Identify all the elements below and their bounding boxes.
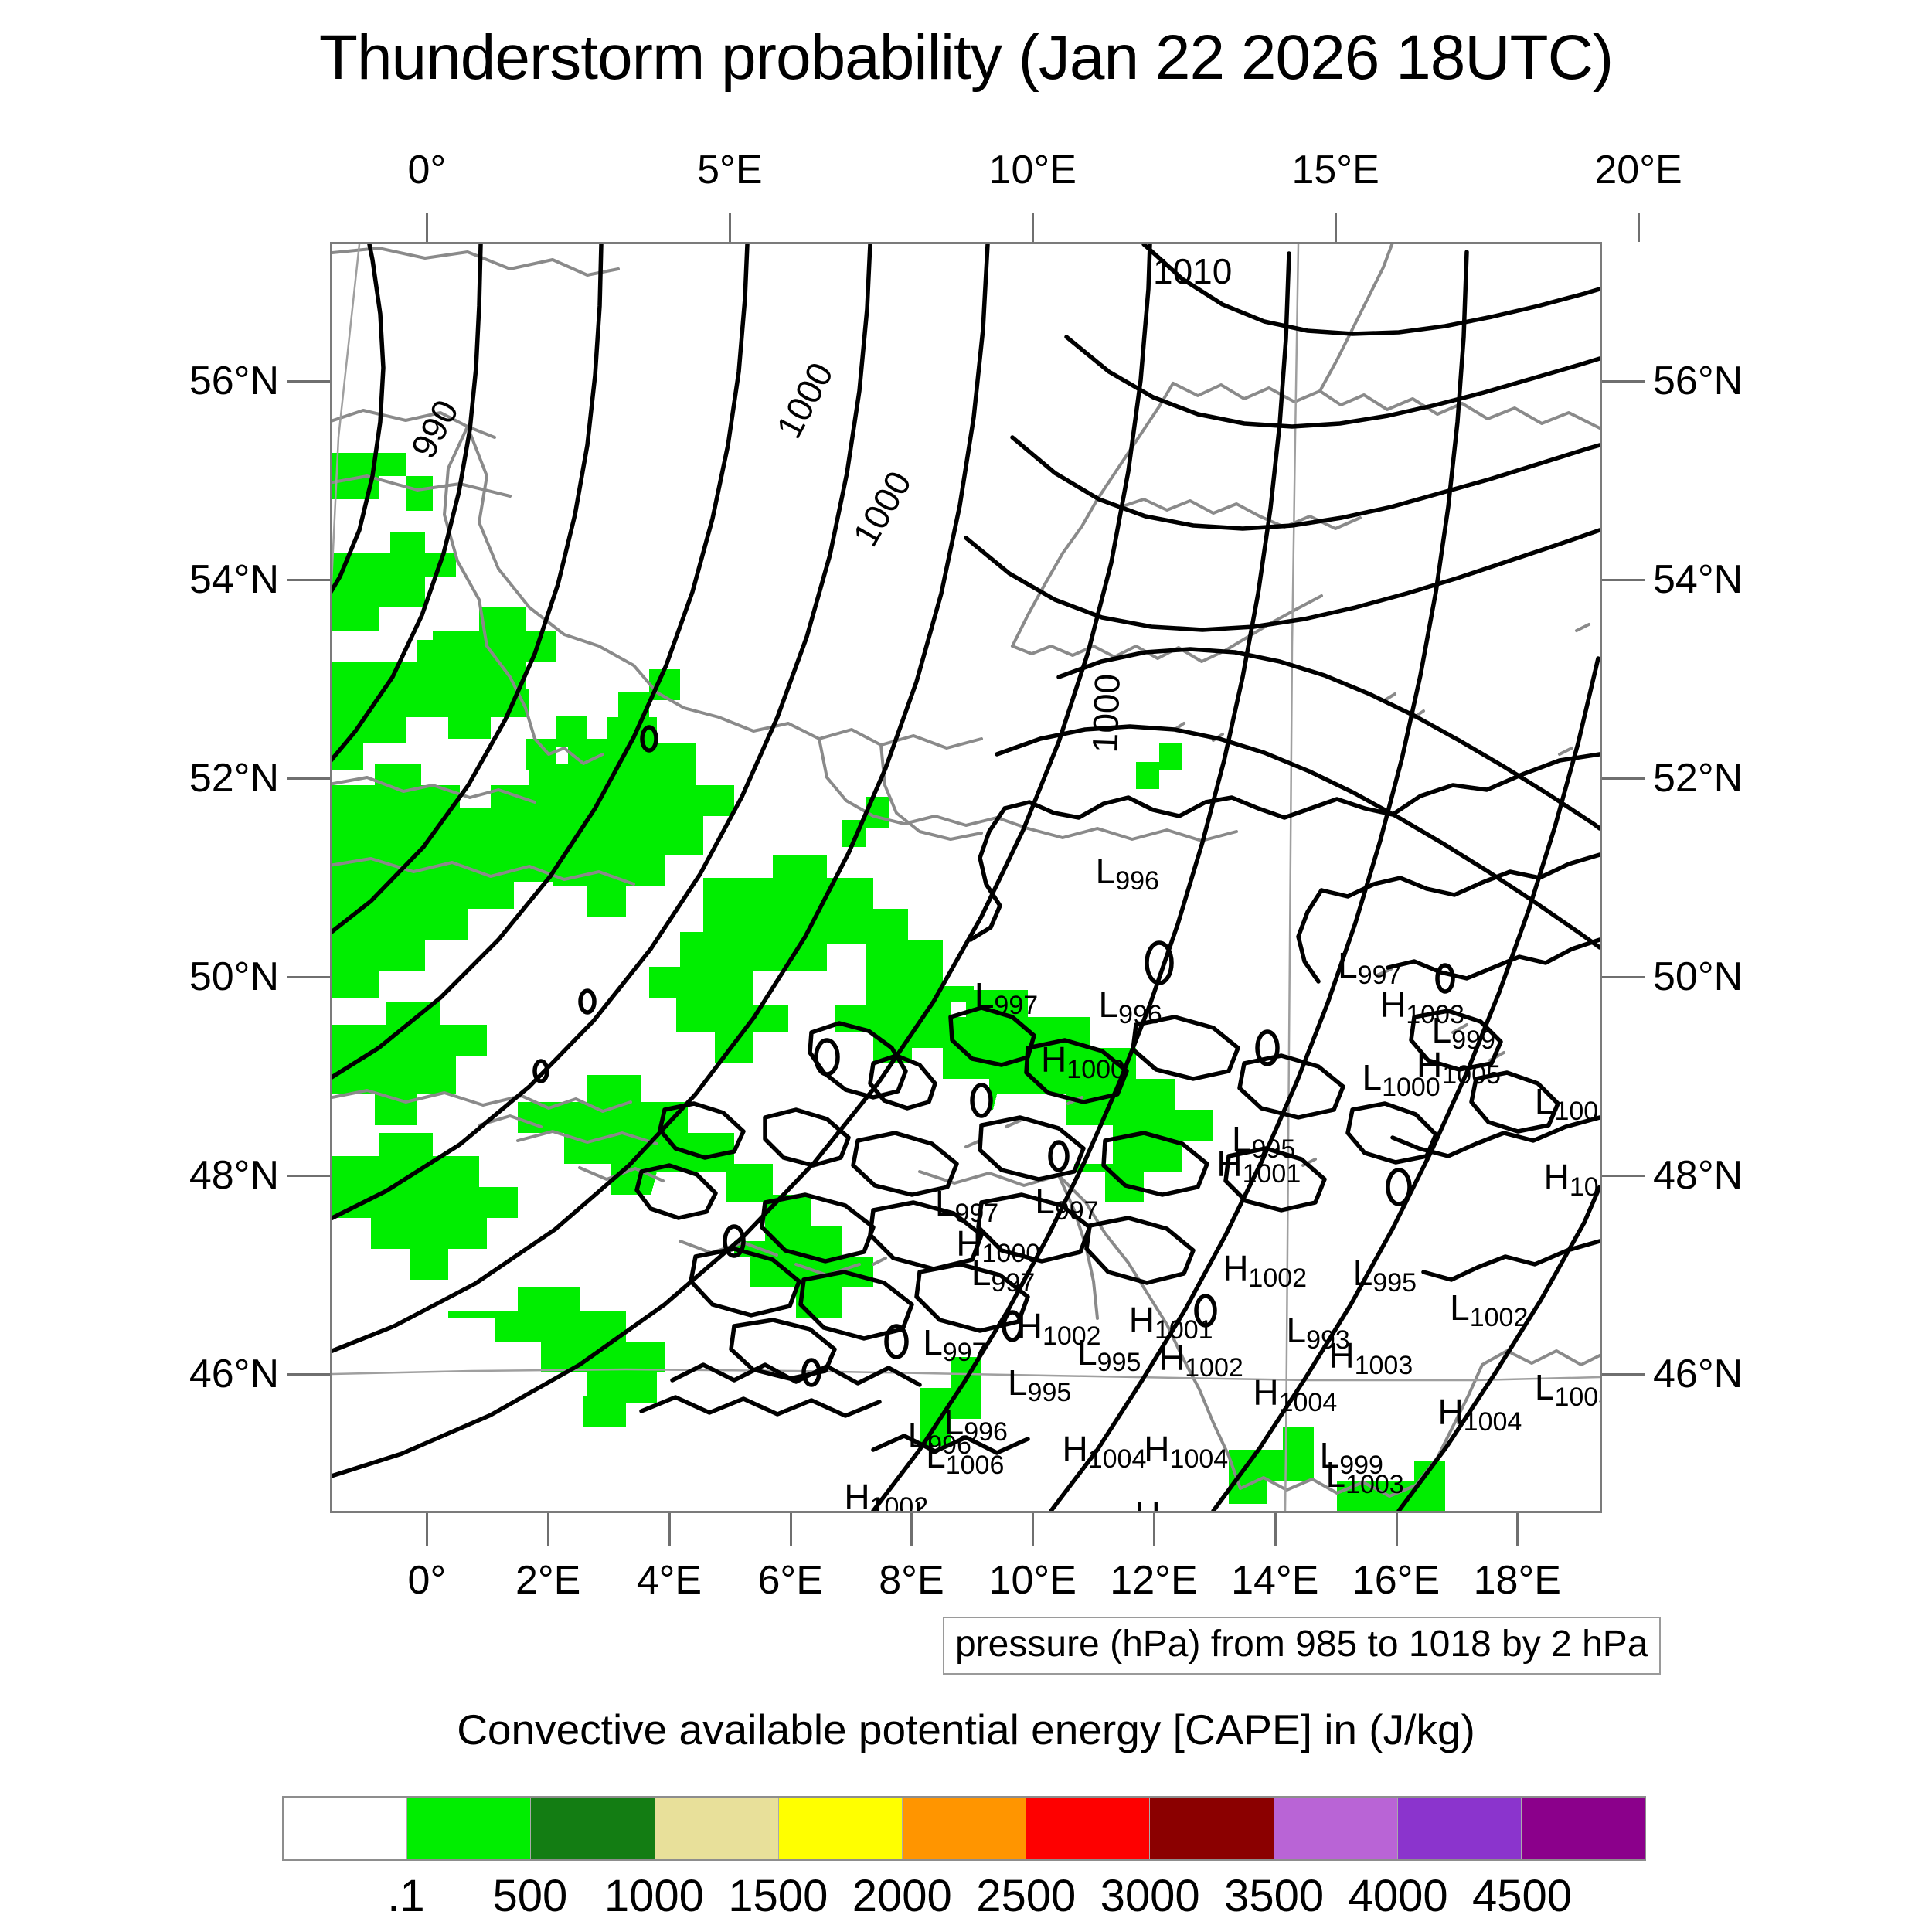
pressure-legend-text: pressure (hPa) from 985 to 1018 by 2 hPa bbox=[955, 1624, 1648, 1665]
axis-label-bottom-2: 4°E bbox=[637, 1557, 702, 1604]
colorbar-tick-2: 1000 bbox=[604, 1870, 704, 1922]
colorbar-segment-5[interactable] bbox=[902, 1798, 1026, 1859]
colorbar-tick-7: 3500 bbox=[1224, 1870, 1324, 1922]
pressure-extremum-l-37: L1006 bbox=[926, 1434, 1004, 1476]
cape-colorbar-ticks: .150010001500200025003000350040004500 bbox=[282, 1870, 1646, 1924]
pressure-extremum-h-34: H1004 bbox=[1144, 1428, 1228, 1470]
map-canvas bbox=[332, 244, 1600, 1511]
colorbar-tick-9: 4500 bbox=[1472, 1870, 1572, 1922]
axis-tick-bottom-0 bbox=[426, 1513, 428, 1546]
pressure-extremum-l-9: L1005 bbox=[1535, 1080, 1602, 1122]
pressure-extremum-h-17: H1002 bbox=[1223, 1247, 1307, 1289]
pressure-extremum-l-18: L995 bbox=[1353, 1252, 1417, 1294]
axis-tick-top-2 bbox=[1032, 213, 1034, 242]
axis-tick-right-5 bbox=[1602, 1373, 1645, 1376]
axis-tick-left-1 bbox=[287, 579, 330, 581]
axis-label-right-3: 50°N bbox=[1653, 954, 1743, 1000]
axis-label-top-3: 15°E bbox=[1291, 147, 1379, 193]
pressure-extremum-h-12: H1005 bbox=[1544, 1156, 1602, 1198]
axis-label-bottom-7: 14°E bbox=[1231, 1557, 1318, 1604]
pressure-extremum-l-1: L997 bbox=[975, 975, 1038, 1016]
axis-label-right-4: 48°N bbox=[1653, 1152, 1743, 1199]
axis-tick-bottom-4 bbox=[910, 1513, 913, 1546]
pressure-extremum-l-0: L996 bbox=[1096, 850, 1159, 892]
axis-label-left-5: 46°N bbox=[189, 1351, 279, 1397]
axis-tick-left-4 bbox=[287, 1175, 330, 1177]
pressure-extremum-h-20: H1001 bbox=[1129, 1299, 1213, 1341]
pressure-extremum-h-29: H1004 bbox=[1253, 1372, 1337, 1413]
pressure-extremum-l-23: L997 bbox=[923, 1321, 986, 1363]
pressure-extremum-l-22: L1002 bbox=[1450, 1287, 1528, 1328]
axis-label-left-2: 52°N bbox=[189, 755, 279, 801]
axis-label-top-0: 0° bbox=[408, 147, 447, 193]
axis-tick-right-0 bbox=[1602, 380, 1645, 383]
pressure-extremum-h-40: H1002 bbox=[1135, 1494, 1219, 1513]
axis-label-bottom-6: 12°E bbox=[1110, 1557, 1197, 1604]
axis-tick-bottom-1 bbox=[547, 1513, 549, 1546]
axis-tick-right-2 bbox=[1602, 777, 1645, 780]
axis-label-bottom-5: 10°E bbox=[989, 1557, 1077, 1604]
contour-label-1000-c: 1000 bbox=[1083, 673, 1128, 753]
colorbar-tick-5: 2500 bbox=[976, 1870, 1076, 1922]
axis-tick-bottom-5 bbox=[1032, 1513, 1034, 1546]
axis-tick-bottom-2 bbox=[668, 1513, 671, 1546]
axis-tick-left-2 bbox=[287, 777, 330, 780]
colorbar-tick-4: 2000 bbox=[852, 1870, 952, 1922]
colorbar-segment-4[interactable] bbox=[778, 1798, 902, 1859]
axis-label-right-1: 54°N bbox=[1653, 556, 1743, 603]
colorbar-segment-10[interactable] bbox=[1521, 1798, 1645, 1859]
axis-label-bottom-1: 2°E bbox=[515, 1557, 580, 1604]
axis-label-top-4: 20°E bbox=[1594, 147, 1682, 193]
axis-label-left-3: 50°N bbox=[189, 954, 279, 1000]
axis-tick-bottom-8 bbox=[1396, 1513, 1398, 1546]
axis-label-left-1: 54°N bbox=[189, 556, 279, 603]
colorbar-tick-0: .1 bbox=[387, 1870, 424, 1922]
axis-tick-left-3 bbox=[287, 976, 330, 978]
map-panel[interactable]: 990 1000 1000 1010 1000 L996L997L996L997… bbox=[330, 242, 1602, 1513]
axis-label-left-4: 48°N bbox=[189, 1152, 279, 1199]
axis-tick-right-1 bbox=[1602, 579, 1645, 581]
pressure-extremum-h-33: H1004 bbox=[1062, 1428, 1146, 1470]
pressure-extremum-l-36: L1003 bbox=[1325, 1454, 1403, 1495]
axis-label-top-2: 10°E bbox=[989, 147, 1077, 193]
pressure-extremum-l-39: L996 bbox=[913, 1494, 977, 1513]
axis-tick-bottom-6 bbox=[1153, 1513, 1155, 1546]
axis-label-bottom-8: 16°E bbox=[1352, 1557, 1440, 1604]
colorbar-tick-6: 3000 bbox=[1100, 1870, 1200, 1922]
axis-tick-top-4 bbox=[1638, 213, 1640, 242]
colorbar-tick-1: 500 bbox=[493, 1870, 568, 1922]
axis-tick-top-0 bbox=[426, 213, 428, 242]
pressure-extremum-h-11: H1001 bbox=[1216, 1143, 1301, 1185]
colorbar-tick-3: 1500 bbox=[728, 1870, 828, 1922]
pressure-extremum-h-26: H1003 bbox=[1328, 1335, 1413, 1376]
colorbar-segment-0[interactable] bbox=[284, 1798, 406, 1859]
axis-label-bottom-4: 8°E bbox=[879, 1557, 944, 1604]
axis-label-bottom-3: 6°E bbox=[757, 1557, 822, 1604]
axis-tick-top-1 bbox=[729, 213, 731, 242]
page-title: Thunderstorm probability (Jan 22 2026 18… bbox=[0, 22, 1932, 94]
pressure-extremum-l-13: L997 bbox=[935, 1182, 998, 1224]
colorbar-segment-7[interactable] bbox=[1149, 1798, 1273, 1859]
colorbar-segment-2[interactable] bbox=[530, 1798, 654, 1859]
axis-label-left-0: 56°N bbox=[189, 358, 279, 404]
contour-label-1010: 1010 bbox=[1153, 250, 1232, 292]
pressure-extremum-h-25: H1002 bbox=[1159, 1337, 1243, 1379]
pressure-legend-box: pressure (hPa) from 985 to 1018 by 2 hPa bbox=[943, 1617, 1661, 1675]
axis-tick-right-3 bbox=[1602, 976, 1645, 978]
colorbar-segment-6[interactable] bbox=[1026, 1798, 1149, 1859]
axis-tick-bottom-3 bbox=[790, 1513, 792, 1546]
pressure-extremum-l-2: L996 bbox=[1099, 984, 1162, 1026]
axis-tick-top-3 bbox=[1335, 213, 1337, 242]
colorbar-segment-8[interactable] bbox=[1274, 1798, 1397, 1859]
cape-colorbar[interactable] bbox=[282, 1796, 1646, 1861]
cape-caption: Convective available potential energy [C… bbox=[0, 1705, 1932, 1754]
colorbar-segment-1[interactable] bbox=[406, 1798, 530, 1859]
axis-label-right-5: 46°N bbox=[1653, 1351, 1743, 1397]
axis-tick-bottom-7 bbox=[1274, 1513, 1277, 1546]
axis-tick-left-5 bbox=[287, 1373, 330, 1376]
axis-label-right-0: 56°N bbox=[1653, 358, 1743, 404]
axis-label-top-1: 5°E bbox=[697, 147, 762, 193]
pressure-extremum-l-3: L997 bbox=[1338, 944, 1401, 986]
pressure-extremum-l-28: L1003 bbox=[1535, 1366, 1602, 1408]
colorbar-segment-9[interactable] bbox=[1397, 1798, 1521, 1859]
pressure-extremum-l-14: L997 bbox=[1035, 1180, 1098, 1222]
colorbar-segment-3[interactable] bbox=[655, 1798, 778, 1859]
axis-tick-left-0 bbox=[287, 380, 330, 383]
pressure-extremum-h-32: H1004 bbox=[1437, 1391, 1522, 1433]
pressure-extremum-l-16: L997 bbox=[971, 1252, 1035, 1294]
axis-label-bottom-9: 18°E bbox=[1474, 1557, 1561, 1604]
pressure-extremum-l-24: L995 bbox=[1077, 1332, 1141, 1373]
pressure-extremum-h-6: H1000 bbox=[1041, 1039, 1125, 1080]
colorbar-tick-8: 4000 bbox=[1349, 1870, 1448, 1922]
axis-tick-bottom-9 bbox=[1516, 1513, 1519, 1546]
pressure-extremum-l-27: L995 bbox=[1008, 1362, 1071, 1403]
pressure-extremum-l-8: L1000 bbox=[1362, 1056, 1440, 1098]
axis-label-right-2: 52°N bbox=[1653, 755, 1743, 801]
axis-label-bottom-0: 0° bbox=[408, 1557, 447, 1604]
axis-tick-right-4 bbox=[1602, 1175, 1645, 1177]
